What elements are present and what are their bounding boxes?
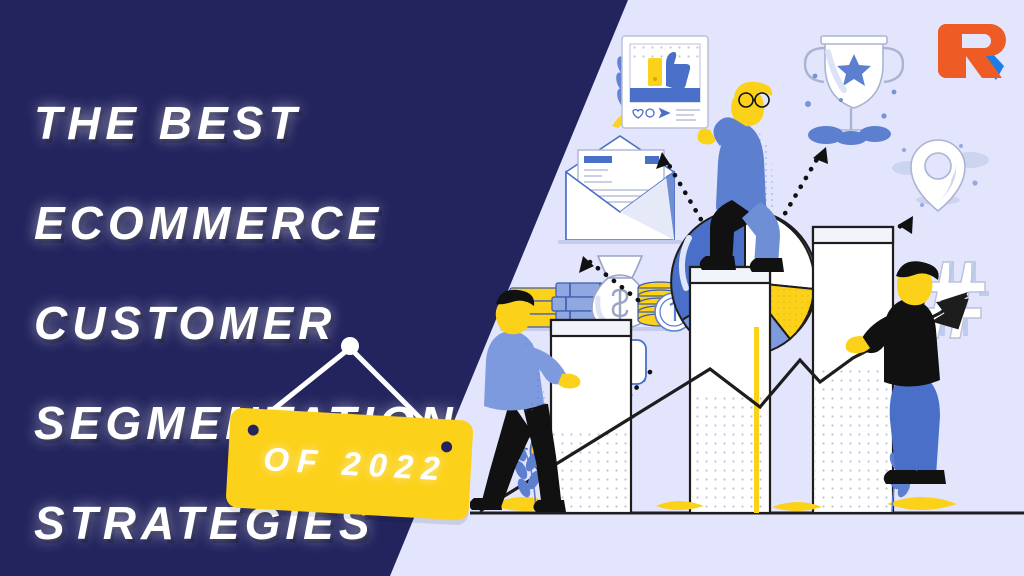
sign-label: OF 2022 bbox=[225, 407, 473, 520]
location-pin-icon bbox=[892, 140, 989, 211]
social-post-icon bbox=[622, 36, 708, 128]
logo-e-mark bbox=[938, 24, 1006, 78]
bar-1 bbox=[551, 320, 631, 513]
headline-line-1: THE BEST bbox=[34, 98, 504, 148]
envelope-icon bbox=[558, 136, 682, 244]
hanging-sign: OF 2022 bbox=[210, 330, 500, 530]
logo-e-notch bbox=[962, 34, 991, 48]
bar-3-real bbox=[813, 227, 893, 513]
trophy-icon bbox=[805, 36, 903, 145]
banner-canvas: THE BEST ECOMMERCE CUSTOMER SEGMENTATION… bbox=[0, 0, 1024, 576]
headline-line-2: ECOMMERCE bbox=[34, 198, 504, 248]
sign-plate: OF 2022 bbox=[225, 407, 473, 520]
brand-logo[interactable] bbox=[934, 16, 1008, 90]
